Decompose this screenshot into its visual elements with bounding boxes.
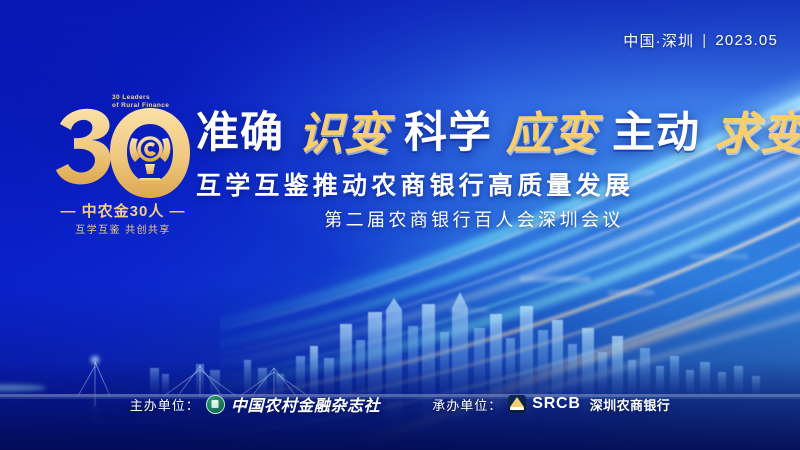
organizer-credit: 承办单位： SRCB 深圳农商银行	[432, 395, 670, 414]
headline-subtitle: 互学互鉴推动农商银行高质量发展	[196, 166, 752, 202]
logo-30-mark-icon	[52, 102, 192, 206]
date-separator: |	[702, 32, 707, 49]
anniversary-logo: 30 Leaders of Rural Finance	[44, 88, 202, 238]
headline-part-1: 准确	[196, 98, 284, 160]
rural-finance-emblem-icon	[206, 395, 225, 414]
logo-chinese-name: — 中农金30人 —	[44, 200, 202, 221]
organizer-organization: 深圳农商银行	[590, 395, 670, 414]
organizer-brand-latin: SRCB	[532, 395, 581, 413]
poster-canvas: 中国·深圳 | 2023.05 30 Leaders of Rural Fina…	[0, 0, 800, 450]
host-label: 主办单位：	[130, 395, 200, 414]
organizer-label: 承办单位：	[432, 395, 502, 414]
srcb-base-shape	[510, 407, 524, 410]
host-credit: 主办单位： 中国农村金融杂志社	[130, 392, 380, 416]
event-date-line: 中国·深圳 | 2023.05	[623, 30, 778, 51]
srcb-ray-shape	[510, 397, 524, 407]
headline-part-4: 应变	[506, 97, 598, 162]
srcb-logo-icon	[508, 395, 526, 413]
main-headline: 准确 识变 科学 应变 主动 求变	[196, 100, 756, 158]
logo-slogan: 互学互鉴 共创共享	[44, 221, 202, 236]
headline-part-6: 求变	[714, 97, 800, 162]
credits-bar: 主办单位： 中国农村金融杂志社 承办单位： SRCB 深圳农商银行	[0, 392, 800, 416]
host-organization: 中国农村金融杂志社	[231, 392, 380, 416]
headline-part-2: 识变	[298, 97, 390, 162]
headline-part-3: 科学	[404, 98, 492, 160]
event-date: 2023.05	[715, 32, 778, 49]
logo-english-line1: 30 Leaders	[112, 94, 169, 102]
event-location: 中国·深圳	[623, 30, 694, 51]
headline-part-5: 主动	[612, 98, 700, 160]
event-name-line: 第二届农商银行百人会深圳会议	[196, 206, 752, 232]
